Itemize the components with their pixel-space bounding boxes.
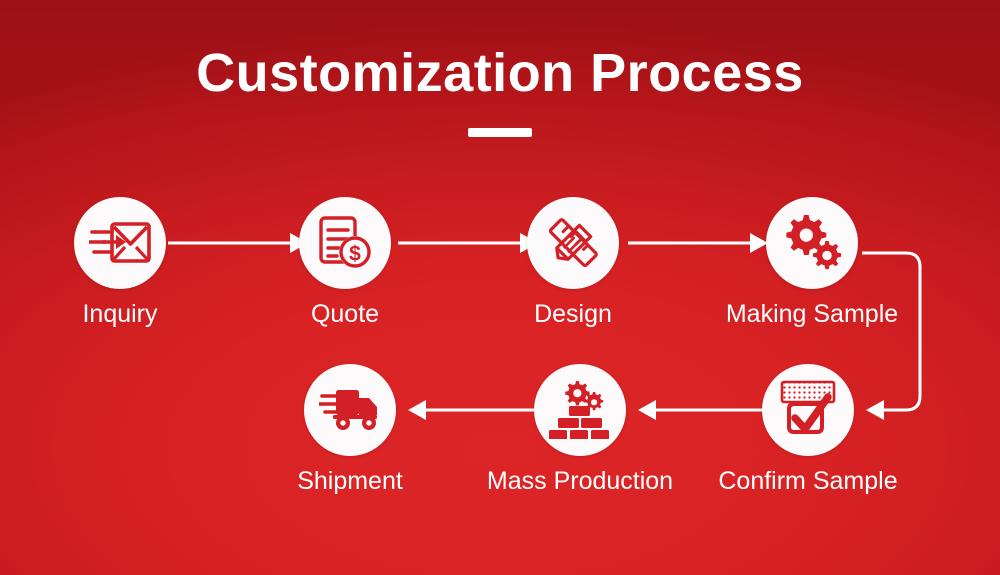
step-shipment-label: Shipment bbox=[250, 468, 450, 496]
step-design-label: Design bbox=[473, 301, 673, 329]
step-mass-production-circle[interactable] bbox=[534, 364, 626, 456]
title-divider bbox=[468, 128, 532, 137]
page-title: Customization Process bbox=[0, 46, 1000, 100]
envelope-speed-icon bbox=[89, 217, 151, 269]
step-design-circle[interactable] bbox=[527, 197, 619, 289]
step-confirm-sample[interactable]: Confirm Sample bbox=[708, 364, 908, 496]
step-design[interactable]: Design bbox=[473, 197, 673, 329]
step-inquiry[interactable]: Inquiry bbox=[20, 197, 220, 329]
step-inquiry-label: Inquiry bbox=[20, 301, 220, 329]
svg-text:$: $ bbox=[349, 243, 361, 266]
step-confirm-sample-label: Confirm Sample bbox=[708, 468, 908, 496]
ruler-pencil-icon bbox=[544, 214, 602, 272]
step-mass-production[interactable]: Mass Production bbox=[480, 364, 680, 496]
step-inquiry-circle[interactable] bbox=[74, 197, 166, 289]
step-shipment-circle[interactable] bbox=[304, 364, 396, 456]
gears-icon bbox=[782, 215, 842, 271]
customization-process-infographic: Customization Process bbox=[0, 0, 1000, 575]
step-mass-production-label: Mass Production bbox=[480, 468, 680, 496]
step-quote-label: Quote bbox=[245, 301, 445, 329]
step-making-sample[interactable]: Making Sample bbox=[712, 197, 912, 329]
swatch-checkbox-icon bbox=[777, 380, 839, 440]
step-making-sample-circle[interactable] bbox=[766, 197, 858, 289]
step-making-sample-label: Making Sample bbox=[712, 301, 912, 329]
step-confirm-sample-circle[interactable] bbox=[762, 364, 854, 456]
step-quote-circle[interactable]: $ bbox=[299, 197, 391, 289]
step-shipment[interactable]: Shipment bbox=[250, 364, 450, 496]
document-dollar-icon: $ bbox=[316, 214, 374, 272]
bricks-gears-icon bbox=[549, 381, 611, 439]
delivery-truck-icon bbox=[319, 387, 381, 433]
step-quote[interactable]: $ Quote bbox=[245, 197, 445, 329]
